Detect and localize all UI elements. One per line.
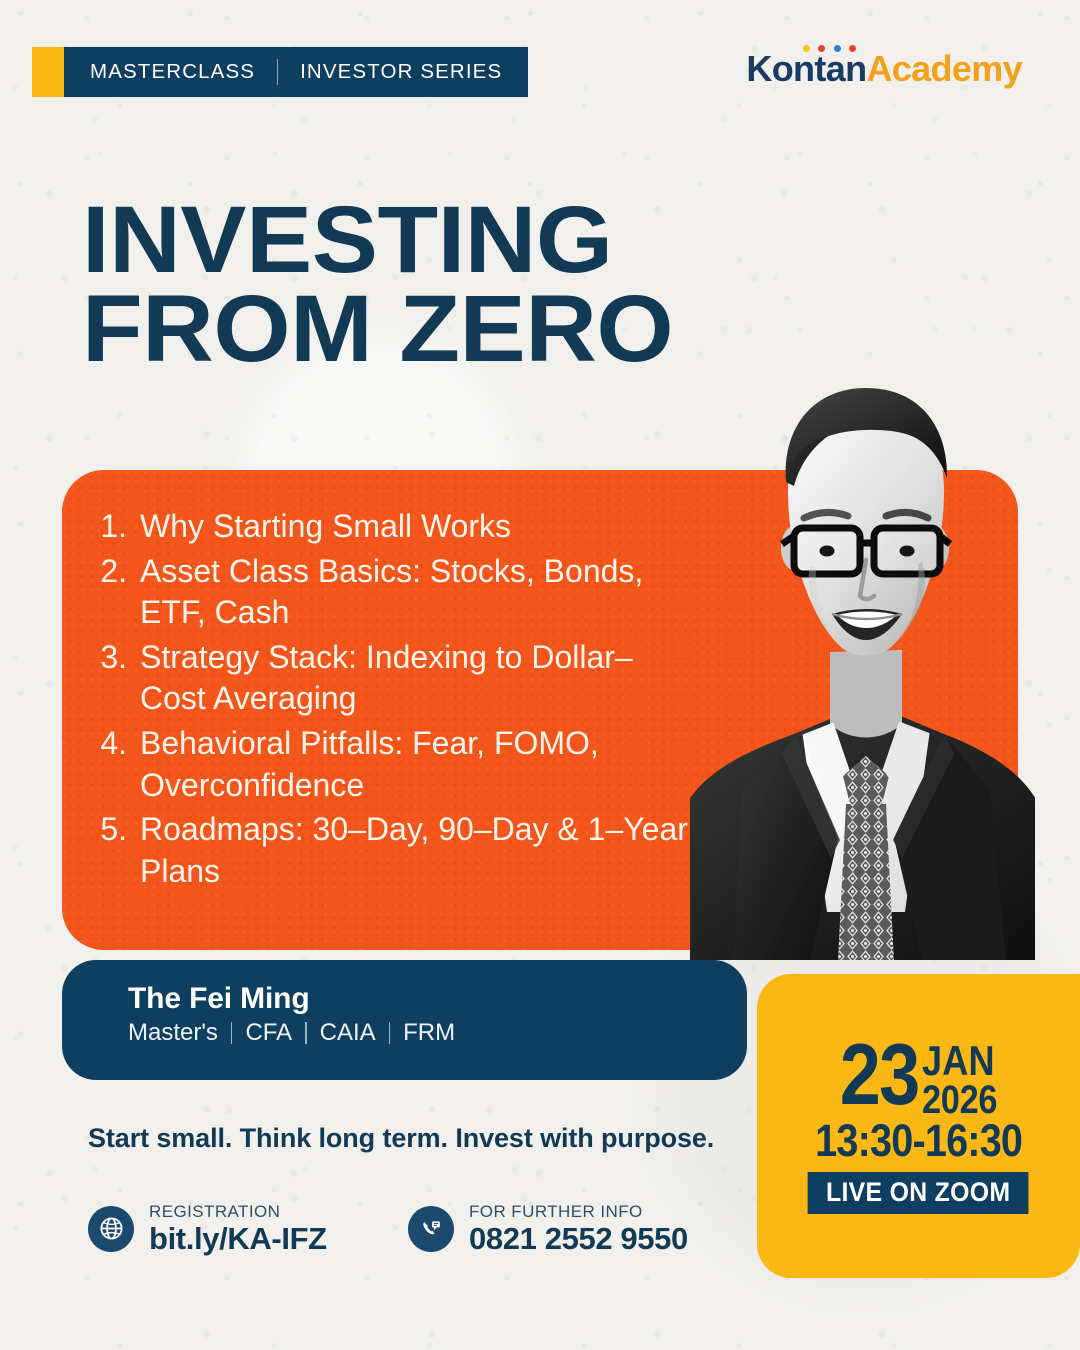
tagline: Start small. Think long term. Invest wit… [88, 1123, 714, 1154]
event-platform-badge: LIVE ON ZOOM [808, 1172, 1029, 1214]
header: MASTERCLASS INVESTOR SERIES Kontan Acade… [0, 0, 1080, 140]
topic-text: Asset Class Basics: Stocks, Bonds, ETF, … [140, 551, 688, 634]
list-item: 4. Behavioral Pitfalls: Fear, FOMO, Over… [88, 723, 688, 806]
category-badge: MASTERCLASS INVESTOR SERIES [32, 47, 528, 97]
topic-number: 2. [88, 551, 140, 634]
credential-divider [231, 1022, 233, 1044]
credential-cfa: CFA [245, 1019, 292, 1047]
info-text: FOR FURTHER INFO 0821 2552 9550 [469, 1203, 688, 1255]
badge-label-investor-series: INVESTOR SERIES [300, 60, 502, 84]
topic-number: 1. [88, 506, 140, 548]
credential-masters: Master's [128, 1019, 218, 1047]
info-value[interactable]: 0821 2552 9550 [469, 1223, 688, 1255]
list-item: 2. Asset Class Basics: Stocks, Bonds, ET… [88, 551, 688, 634]
event-date-row: 23 JAN 2026 [827, 1038, 1010, 1121]
registration-value[interactable]: bit.ly/KA-IFZ [149, 1223, 327, 1255]
list-item: 1. Why Starting Small Works [88, 506, 688, 548]
title-line-2: FROM ZERO [82, 285, 673, 374]
registration-label: REGISTRATION [149, 1203, 327, 1220]
globe-icon [88, 1206, 134, 1252]
topic-number: 5. [88, 809, 140, 892]
page-title: INVESTING FROM ZERO [82, 196, 673, 375]
title-line-1: INVESTING [82, 196, 673, 285]
footer-contacts: REGISTRATION bit.ly/KA-IFZ FOR FURTHER I… [88, 1203, 688, 1255]
event-month-year: JAN 2026 [922, 1038, 1009, 1121]
topics-list: 1. Why Starting Small Works 2. Asset Cla… [88, 506, 688, 895]
speaker-name: The Fei Ming [128, 982, 747, 1016]
phone-message-icon [408, 1206, 454, 1252]
topic-text: Behavioral Pitfalls: Fear, FOMO, Overcon… [140, 723, 688, 806]
topic-number: 3. [88, 637, 140, 720]
brand-logo: Kontan Academy [746, 48, 1022, 90]
list-item: 3. Strategy Stack: Indexing to Dollar–Co… [88, 637, 688, 720]
topic-text: Why Starting Small Works [140, 506, 688, 548]
topic-text: Strategy Stack: Indexing to Dollar–Cost … [140, 637, 688, 720]
event-time: 13:30-16:30 [815, 1118, 1022, 1163]
event-year: 2026 [922, 1080, 997, 1120]
speaker-portrait [690, 352, 1035, 960]
credential-divider [305, 1022, 307, 1044]
credential-caia: CAIA [320, 1019, 376, 1047]
info-contact[interactable]: FOR FURTHER INFO 0821 2552 9550 [408, 1203, 688, 1255]
badge-body: MASTERCLASS INVESTOR SERIES [64, 47, 528, 97]
speaker-bar-inner: The Fei Ming Master's CFA CAIA FRM [62, 960, 747, 1047]
event-date-card: 23 JAN 2026 13:30-16:30 LIVE ON ZOOM [757, 974, 1080, 1278]
badge-label-masterclass: MASTERCLASS [90, 60, 255, 84]
logo-suffix-text: Academy [866, 48, 1022, 90]
info-label: FOR FURTHER INFO [469, 1203, 688, 1220]
registration-contact[interactable]: REGISTRATION bit.ly/KA-IFZ [88, 1203, 408, 1255]
topic-number: 4. [88, 723, 140, 806]
credential-frm: FRM [403, 1019, 455, 1047]
topic-text: Roadmaps: 30–Day, 90–Day & 1–Year Plans [140, 809, 688, 892]
speaker-bar: The Fei Ming Master's CFA CAIA FRM [62, 960, 747, 1080]
list-item: 5. Roadmaps: 30–Day, 90–Day & 1–Year Pla… [88, 809, 688, 892]
event-day: 23 [840, 1038, 919, 1114]
event-month: JAN [922, 1042, 997, 1081]
speaker-credentials: Master's CFA CAIA FRM [128, 1019, 747, 1047]
logo-brand-text: Kontan [746, 48, 866, 90]
badge-divider [277, 59, 278, 85]
poster-canvas: MASTERCLASS INVESTOR SERIES Kontan Acade… [0, 0, 1080, 1350]
badge-accent-block [32, 47, 64, 97]
credential-divider [389, 1022, 391, 1044]
registration-text: REGISTRATION bit.ly/KA-IFZ [149, 1203, 327, 1255]
